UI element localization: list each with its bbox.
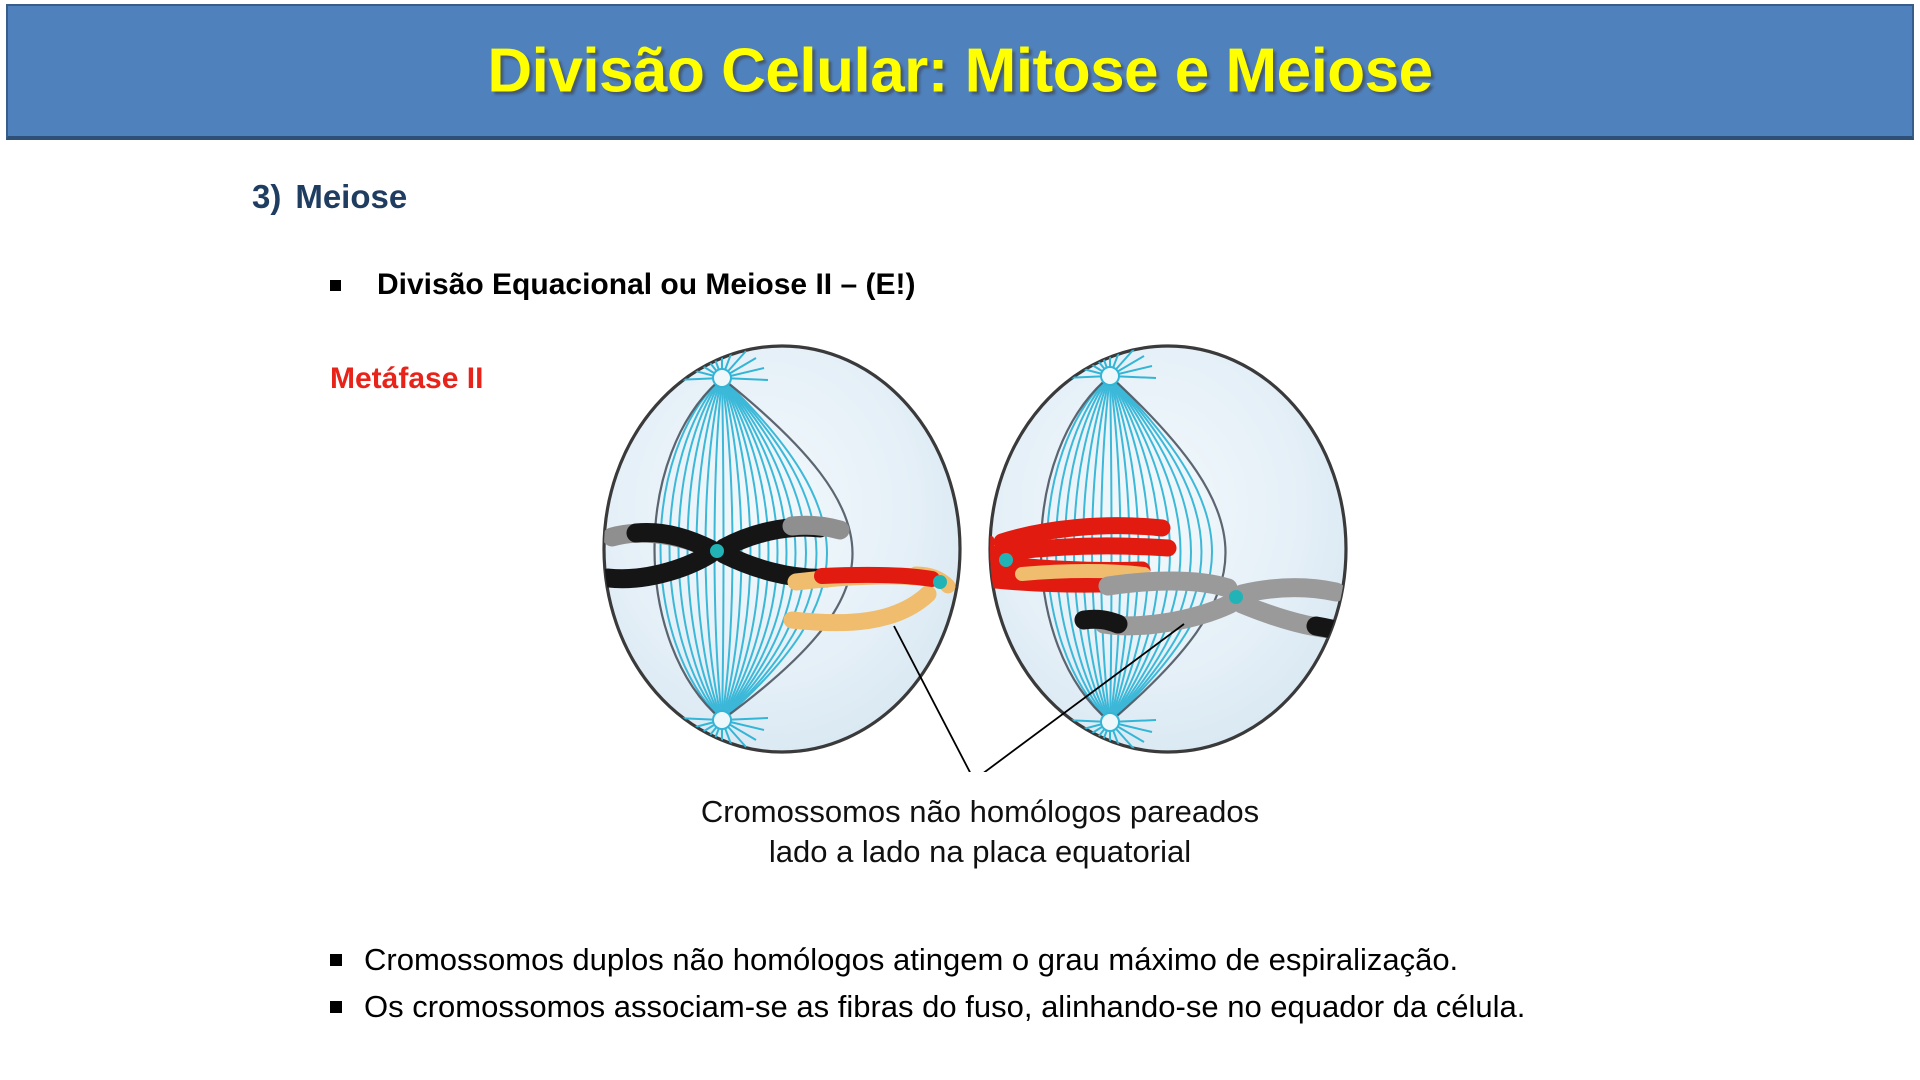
- list-item-label: Cromossomos duplos não homólogos atingem…: [364, 940, 1458, 981]
- subsection-line: Divisão Equacional ou Meiose II – (E!): [330, 268, 915, 302]
- section-number: 3): [252, 178, 281, 215]
- list-item: Os cromossomos associam-se as fibras do …: [330, 987, 1850, 1028]
- centrosome-bottom: [713, 711, 731, 729]
- centromere: [999, 553, 1013, 567]
- subsection-label: Divisão Equacional ou Meiose II – (E!): [377, 268, 915, 302]
- title-banner: Divisão Celular: Mitose e Meiose: [6, 4, 1914, 140]
- list-item-label: Os cromossomos associam-se as fibras do …: [364, 987, 1525, 1028]
- slide-title: Divisão Celular: Mitose e Meiose: [8, 36, 1912, 107]
- list-item: Cromossomos duplos não homólogos atingem…: [330, 940, 1850, 981]
- figure-caption: Cromossomos não homólogos pareados lado …: [600, 792, 1360, 871]
- centrosome-top: [1101, 367, 1119, 385]
- square-bullet-icon: [330, 280, 341, 291]
- red-chromosome: [822, 575, 932, 579]
- right-cell: [980, 342, 1348, 756]
- cell-membrane: [604, 346, 960, 752]
- centrosome-top: [713, 369, 731, 387]
- phase-label: Metáfase II: [330, 362, 483, 396]
- centromere: [710, 544, 724, 558]
- centromere: [1229, 590, 1243, 604]
- square-bullet-icon: [330, 954, 342, 966]
- figure-caption-line2: lado a lado na placa equatorial: [600, 832, 1360, 872]
- square-bullet-icon: [330, 1001, 342, 1013]
- figure-caption-line1: Cromossomos não homólogos pareados: [600, 792, 1360, 832]
- bullet-list: Cromossomos duplos não homólogos atingem…: [330, 940, 1850, 1034]
- metaphase-ii-diagram: [596, 342, 1356, 772]
- centromere: [933, 575, 947, 589]
- orange-chromosome: [1022, 571, 1144, 574]
- section-heading: 3)Meiose: [252, 178, 407, 216]
- section-label: Meiose: [295, 178, 407, 215]
- centrosome-bottom: [1101, 713, 1119, 731]
- left-cell: [604, 344, 960, 754]
